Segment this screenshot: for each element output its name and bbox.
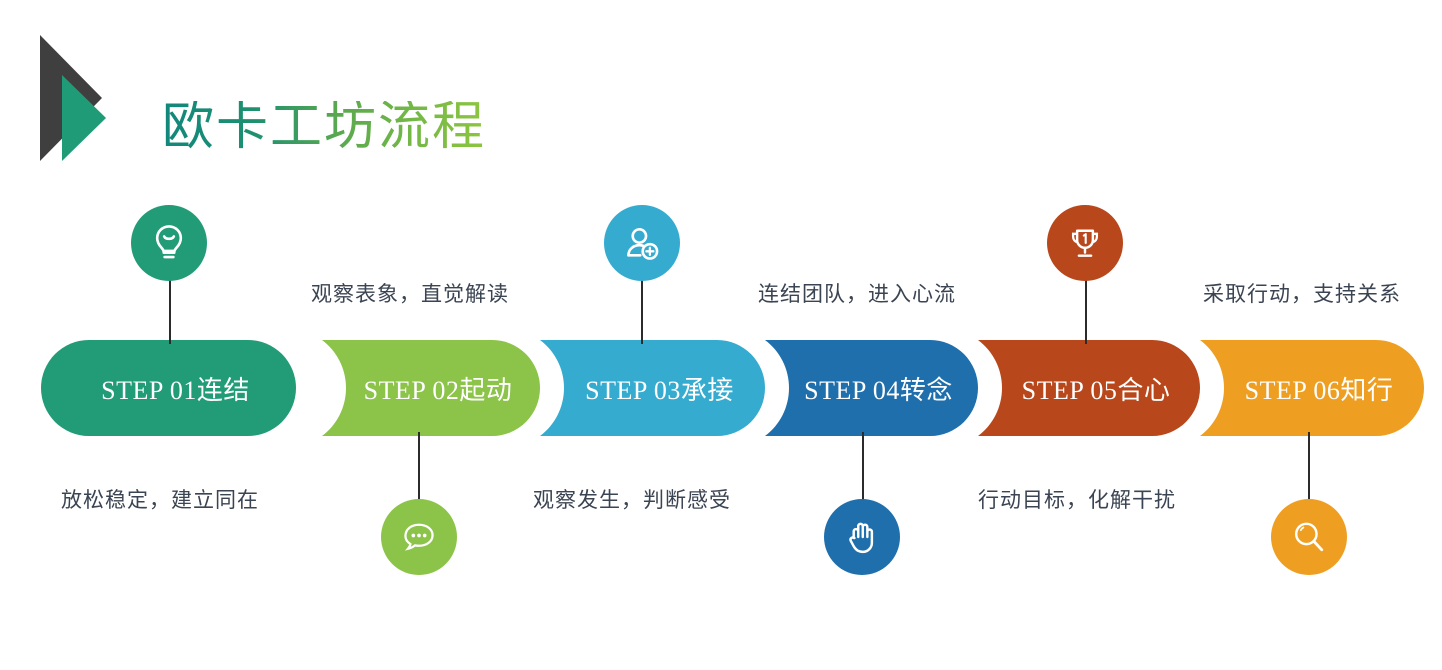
chevron-step-4[interactable]: STEP 04转念: [765, 340, 978, 436]
badge-step-5[interactable]: [1047, 205, 1123, 281]
chevron-step-2[interactable]: STEP 02起动: [322, 340, 540, 436]
badge-step-2[interactable]: [381, 499, 457, 575]
connector-line-step-3: [641, 280, 643, 344]
badge-step-6[interactable]: [1271, 499, 1347, 575]
badge-step-4[interactable]: [824, 499, 900, 575]
chevron-step-6[interactable]: STEP 06知行: [1200, 340, 1424, 436]
connector-line-step-2: [418, 432, 420, 502]
chevron-label-3: STEP 03承接: [540, 370, 765, 407]
caption-step-6: 采取行动，支持关系: [1203, 278, 1401, 308]
chevron-label-1: STEP 01连结: [41, 370, 296, 407]
caption-step-4: 连结团队，进入心流: [758, 278, 956, 308]
caption-step-3: 观察发生，判断感受: [533, 484, 731, 514]
lightbulb-smile-icon: [148, 222, 190, 264]
infographic-canvas: 欧卡工坊流程 STEP 01连结 放松稳定，建立同在: [0, 0, 1442, 670]
trophy-one-icon: [1064, 222, 1106, 264]
connector-line-step-4: [862, 432, 864, 502]
badge-step-3[interactable]: [604, 205, 680, 281]
caption-step-1: 放松稳定，建立同在: [61, 484, 259, 514]
add-user-icon: [621, 222, 663, 264]
connector-line-step-6: [1308, 432, 1310, 502]
chevron-label-5: STEP 05合心: [978, 370, 1200, 407]
connector-line-step-5: [1085, 280, 1087, 344]
chevron-step-1[interactable]: STEP 01连结: [41, 340, 296, 436]
caption-step-5: 行动目标，化解干扰: [978, 484, 1176, 514]
speech-bubble-dots-icon: [398, 516, 440, 558]
badge-step-1[interactable]: [131, 205, 207, 281]
chevron-label-2: STEP 02起动: [322, 370, 540, 407]
open-hand-icon: [841, 516, 883, 558]
chevron-label-6: STEP 06知行: [1200, 370, 1424, 407]
magnifier-icon: [1288, 516, 1330, 558]
chevron-step-3[interactable]: STEP 03承接: [540, 340, 765, 436]
chevron-label-4: STEP 04转念: [765, 370, 978, 407]
process-steps: STEP 01连结 放松稳定，建立同在 STEP 02起动: [0, 0, 1442, 670]
chevron-step-5[interactable]: STEP 05合心: [978, 340, 1200, 436]
connector-line-step-1: [169, 280, 171, 344]
caption-step-2: 观察表象，直觉解读: [311, 278, 509, 308]
